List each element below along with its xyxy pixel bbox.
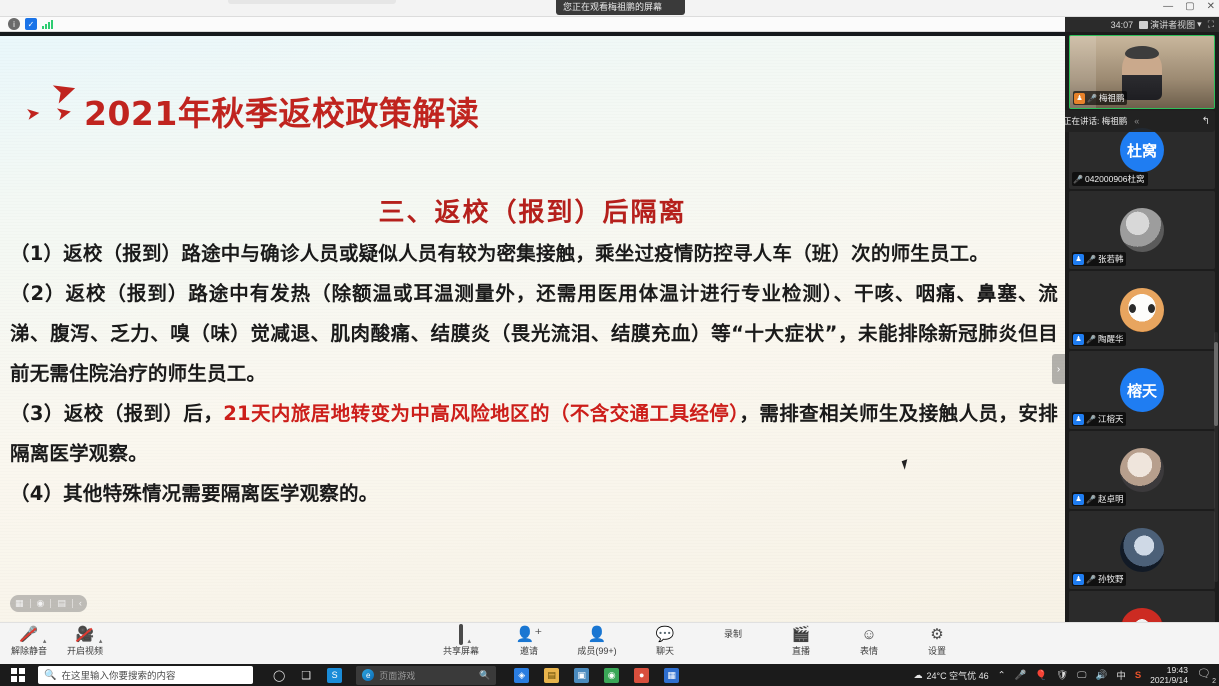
participants-label: 成员(99+)	[577, 644, 616, 657]
video-tile[interactable]: ♟ 🎤 陶醒华	[1069, 271, 1215, 349]
screen-share-banner[interactable]: 您正在观看梅祖鹏的屏幕 hamburger-icon	[556, 0, 685, 15]
divider	[30, 599, 31, 608]
emoji-button[interactable]: ☺ 表情	[848, 626, 890, 657]
chevron-icons: «	[1134, 116, 1137, 126]
volume-icon[interactable]: 🔊	[1095, 670, 1107, 681]
task-view-icon[interactable]: ❑	[301, 669, 311, 682]
browser-tool-strip: i ✓	[0, 17, 1065, 32]
live-button[interactable]: 🎬 直播	[780, 626, 822, 657]
control-left-group: 🎤▴ 解除静音 🎥▴ 开启视频	[8, 626, 106, 657]
minimize-button[interactable]: —	[1163, 1, 1173, 13]
mic-muted-icon: 🎤	[1086, 575, 1096, 584]
meeting-header: 34:07 演讲者视图 ▾ ⛶	[1065, 17, 1219, 32]
settings-button[interactable]: ⚙ 设置	[916, 626, 958, 657]
participant-name: 张若韩	[1098, 253, 1124, 265]
maximize-button[interactable]: ▢	[1185, 1, 1194, 13]
video-tile[interactable]: 榕天 ♟ 🎤 江榕天	[1069, 351, 1215, 429]
avatar	[1120, 608, 1164, 622]
participant-name-tag: ♟ 🎤 孙牧野	[1072, 572, 1126, 586]
invite-icon: 👤⁺	[516, 626, 543, 643]
notification-count: 2	[1212, 678, 1216, 685]
cortana-circle-icon[interactable]: ◯	[273, 669, 285, 682]
ppt-mini-toolbar[interactable]: ▦ ◉ ▤ ‹	[10, 595, 87, 612]
share-banner-text: 您正在观看梅祖鹏的屏幕	[563, 0, 662, 15]
unmute-label: 解除静音	[11, 644, 47, 657]
slide-paragraph-1: （1）返校（报到）路途中与确诊人员或疑似人员有较为密集接触，乘坐过疫情防控寻人车…	[10, 234, 1058, 274]
taskbar-pinned-apps: ◈ ▤ ▣ ◉ ● ▦	[514, 668, 679, 683]
explorer-icon[interactable]: ▤	[544, 668, 559, 683]
notification-icon[interactable]: 🗨2	[1197, 667, 1213, 683]
shield-icon[interactable]: ✓	[25, 18, 37, 30]
record-label: 录制	[724, 627, 742, 640]
unmute-button[interactable]: 🎤▴ 解除静音	[8, 626, 50, 657]
participant-name: 赵卓明	[1098, 493, 1124, 505]
participant-name-tag: 🎤 042000906杜窝	[1072, 172, 1148, 186]
participant-name: 江榕天	[1098, 413, 1124, 425]
chevron-down-icon[interactable]: ▾	[1197, 19, 1202, 30]
participant-name: 042000906杜窝	[1085, 173, 1145, 185]
participant-name-tag: ♟ 🎤 赵卓明	[1072, 492, 1126, 506]
speaker-cap	[1125, 46, 1159, 59]
clock-date: 2021/9/14	[1150, 675, 1188, 685]
shared-screen-slide[interactable]: ➤ ➤ ➤ 2021年秋季返校政策解读 三、返校（报到）后隔离 （1）返校（报到…	[0, 32, 1065, 622]
windows-taskbar: 🔍 在这里输入你要搜索的内容 ◯ ❑ S e 页面游戏 🔍 ◈ ▤ ▣ ◉ ● …	[0, 664, 1219, 686]
paragraph-segment-emphasis: 21天内旅居地转变为中高风险地区的（不含交通工具经停）	[223, 402, 739, 425]
search-icon: 🔍	[479, 670, 490, 681]
slide-top-border	[0, 32, 1065, 36]
dove-icon: ➤ ➤ ➤	[22, 80, 112, 134]
mic-muted-icon: 🎤	[1086, 415, 1096, 424]
avatar	[1120, 208, 1164, 252]
avatar	[1120, 528, 1164, 572]
participants-icon: 👤	[588, 626, 607, 643]
chevron-left-icon[interactable]: ‹	[79, 599, 82, 608]
clock[interactable]: 19:43 2021/9/14	[1150, 665, 1188, 685]
display-icon[interactable]: 🖵	[1077, 670, 1086, 681]
participant-badge-icon: ♟	[1073, 254, 1084, 265]
participant-badge-icon: ♟	[1073, 334, 1084, 345]
photos-icon[interactable]: ▣	[574, 668, 589, 683]
top-chrome-strip: 您正在观看梅祖鹏的屏幕 hamburger-icon — ▢ ✕	[0, 0, 1219, 17]
close-button[interactable]: ✕	[1207, 1, 1215, 13]
chat-icon: 💬	[656, 626, 675, 643]
emoji-label: 表情	[860, 644, 878, 657]
share-screen-button[interactable]: ▴ 共享屏幕	[440, 626, 482, 657]
tray-expand-icon[interactable]: ⌃	[998, 670, 1006, 681]
subtitle-icon[interactable]: ▤	[57, 599, 66, 608]
cloud-icon: ☁	[913, 670, 922, 681]
video-tile-speaker[interactable]: ♟ 🎤 梅祖鹏	[1069, 35, 1215, 109]
mic-active-icon: 🎤	[1087, 94, 1097, 103]
store-icon[interactable]: ◈	[514, 668, 529, 683]
participants-button[interactable]: 👤 成员(99+)	[576, 626, 618, 657]
info-icon[interactable]: i	[8, 18, 20, 30]
participant-name: 梅祖鹏	[1099, 92, 1125, 104]
share-screen-icon: ▴	[459, 626, 463, 643]
slide-next-arrow[interactable]: ›	[1052, 354, 1065, 384]
paragraph-segment: （3）返校（报到）后，	[10, 402, 223, 425]
live-label: 直播	[792, 644, 810, 657]
back-arrow-icon[interactable]: ↰	[1202, 116, 1210, 127]
system-tray: ☁ 24°C 空气优 46 ⌃ 🎤 🎈 🛡 🖵 🔊 中 S 19:43 2021…	[913, 664, 1219, 686]
mic-muted-icon: 🎤▴	[20, 626, 39, 643]
control-center-group: ▴ 共享屏幕 👤⁺ 邀请 👤 成员(99+) 💬 聊天 录制 🎬 直播	[440, 626, 958, 657]
participant-name-tag: ♟ 🎤 江榕天	[1072, 412, 1126, 426]
participant-name-tag: ♟ 🎤 张若韩	[1072, 252, 1126, 266]
participant-badge-icon: ♟	[1073, 414, 1084, 425]
slide-paragraph-2: （2）返校（报到）路途中有发热（除额温或耳温测量外，还需用医用体温计进行专业检测…	[10, 274, 1058, 394]
avatar: 榕天	[1120, 368, 1164, 412]
paragraph-segment: （2）返校（报到）路途中有发热（除额温或耳温测量外，还需用医用体温计进行专业检测…	[10, 282, 1058, 385]
taskbar-system-icons: ◯ ❑ S	[273, 668, 342, 683]
participant-badge-icon: ♟	[1073, 494, 1084, 505]
screen-root: 您正在观看梅祖鹏的屏幕 hamburger-icon — ▢ ✕ i ✓ 34:…	[0, 0, 1219, 686]
start-video-label: 开启视频	[67, 644, 103, 657]
paragraph-segment: （4）其他特殊情况需要隔离医学观察的。	[10, 482, 378, 505]
page-title: 2021年秋季返校政策解读	[84, 97, 479, 134]
participant-name-tag: ♟ 🎤 陶醒华	[1072, 332, 1126, 346]
divider	[50, 599, 51, 608]
gear-icon: ⚙	[930, 626, 943, 643]
active-speaker-label: 正在讲话: 梅祖鹏	[1065, 115, 1127, 127]
app-icon[interactable]: 🎈	[1035, 670, 1047, 681]
invite-label: 邀请	[520, 644, 538, 657]
participant-name: 陶醒华	[1098, 333, 1124, 345]
host-badge-icon: ♟	[1074, 93, 1085, 104]
avatar	[1120, 288, 1164, 332]
meeting-control-bar: 🎤▴ 解除静音 🎥▴ 开启视频 ▴ 共享屏幕 👤⁺ 邀请 👤 成员(99+)	[0, 622, 1219, 664]
weather-text: 24°C 空气优 46	[926, 669, 988, 682]
clock-time: 19:43	[1150, 665, 1188, 675]
signal-bars-icon	[42, 20, 53, 29]
start-video-button[interactable]: 🎥▴ 开启视频	[64, 626, 106, 657]
record-button[interactable]: 录制	[712, 626, 754, 657]
meeting-icon[interactable]: ●	[634, 668, 649, 683]
video-tile[interactable]: ♟ 🎤 孙牧野	[1069, 511, 1215, 589]
hamburger-icon[interactable]: hamburger-icon	[669, 0, 678, 15]
chat-button[interactable]: 💬 聊天	[644, 626, 686, 657]
video-tile[interactable]	[1069, 591, 1215, 622]
edge-icon: e	[362, 669, 374, 681]
settings-label: 设置	[928, 644, 946, 657]
share-screen-label: 共享屏幕	[443, 644, 479, 657]
slide-paragraph-4: （4）其他特殊情况需要隔离医学观察的。	[10, 474, 1058, 514]
camera-muted-icon: 🎥▴	[76, 626, 95, 643]
meeting-timer: 34:07	[1111, 20, 1134, 30]
weather-widget[interactable]: ☁ 24°C 空气优 46	[913, 669, 988, 682]
video-tile[interactable]: ♟ 🎤 张若韩	[1069, 191, 1215, 269]
video-tile[interactable]: ♟ 🎤 赵卓明	[1069, 431, 1215, 509]
mic-muted-icon: 🎤	[1086, 335, 1096, 344]
pointer-icon[interactable]: ◉	[37, 599, 45, 608]
video-scrollbar-thumb[interactable]	[1214, 342, 1218, 426]
fullscreen-icon[interactable]: ⛶	[1208, 19, 1214, 30]
invite-button[interactable]: 👤⁺ 邀请	[508, 626, 550, 657]
mic-icon[interactable]: 🎤	[1015, 670, 1027, 681]
sogou-icon[interactable]: S	[1135, 670, 1141, 681]
windows-start-icon[interactable]	[0, 664, 36, 686]
slide-paragraph-3: （3）返校（报到）后，21天内旅居地转变为中高风险地区的（不含交通工具经停），需…	[10, 394, 1058, 474]
chat-label: 聊天	[656, 644, 674, 657]
meeting-app-icon[interactable]: S	[327, 668, 342, 683]
emoji-icon: ☺	[861, 626, 876, 643]
participant-name: 孙牧野	[1098, 573, 1124, 585]
window-controls: — ▢ ✕	[1163, 1, 1215, 13]
edge-window-title: 页面游戏	[379, 669, 415, 682]
active-speaker-bar[interactable]: 正在讲话: 梅祖鹏 « ↰	[1065, 110, 1215, 132]
participant-video-panel[interactable]: ♟ 🎤 梅祖鹏 正在讲话: 梅祖鹏 « ↰ 杜窝 🎤 042000906杜窝 ♟…	[1065, 32, 1219, 622]
view-mode-selector[interactable]: 演讲者视图 ▾	[1139, 18, 1202, 31]
mic-muted-icon: 🎤	[1073, 175, 1083, 184]
slide-body: （1）返校（报到）路途中与确诊人员或疑似人员有较为密集接触，乘坐过疫情防控寻人车…	[10, 234, 1058, 514]
slide-section-heading: 三、返校（报到）后隔离	[0, 192, 1065, 229]
avatar	[1120, 448, 1164, 492]
ime-mode-indicator[interactable]: 中	[1116, 668, 1126, 682]
participant-badge-icon: ♟	[1073, 574, 1084, 585]
layout-icon	[1139, 21, 1148, 29]
search-icon: 🔍	[44, 670, 56, 681]
app-blue-icon[interactable]: ▦	[664, 668, 679, 683]
live-icon: 🎬	[792, 626, 811, 643]
view-mode-label: 演讲者视图	[1150, 18, 1195, 31]
chrome-icon[interactable]: ◉	[604, 668, 619, 683]
avatar: 杜窝	[1120, 128, 1164, 172]
slide-title-row: ➤ ➤ ➤ 2021年秋季返校政策解读	[22, 80, 479, 134]
paragraph-segment: （1）返校（报到）路途中与确诊人员或疑似人员有较为密集接触，乘坐过疫情防控寻人车…	[10, 242, 989, 265]
shield-icon[interactable]: 🛡	[1056, 670, 1068, 681]
share-ghost-tab	[228, 0, 396, 4]
slide-grid-icon[interactable]: ▦	[15, 599, 24, 608]
mic-muted-icon: 🎤	[1086, 255, 1096, 264]
mic-muted-icon: 🎤	[1086, 495, 1096, 504]
participant-name-tag: ♟ 🎤 梅祖鹏	[1073, 91, 1127, 105]
search-input[interactable]: 🔍 在这里输入你要搜索的内容	[38, 666, 253, 684]
divider	[72, 599, 73, 608]
search-placeholder: 在这里输入你要搜索的内容	[61, 668, 175, 682]
edge-window-button[interactable]: e 页面游戏 🔍	[356, 666, 496, 685]
